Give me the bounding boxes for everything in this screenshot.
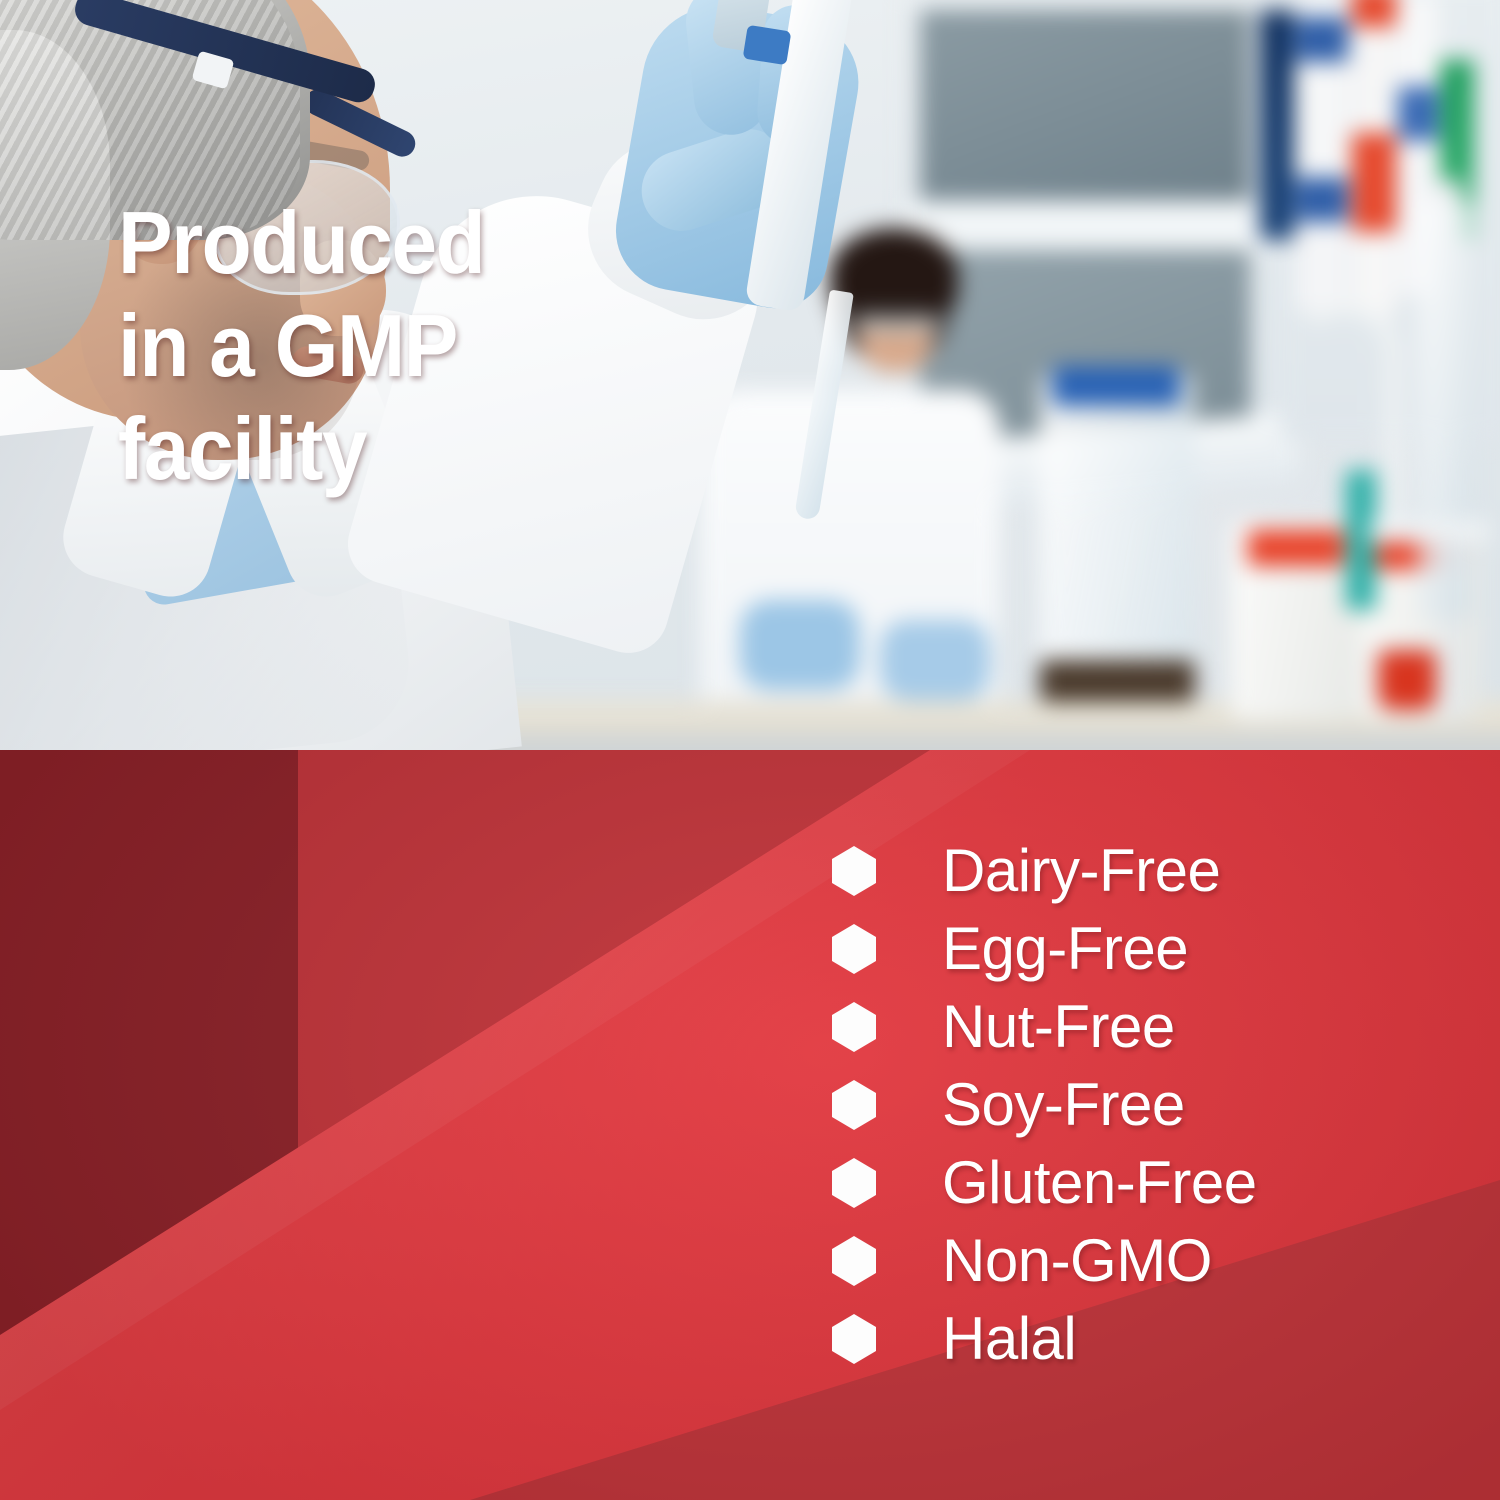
list-item: Egg-Free xyxy=(832,910,1452,988)
headline-line-3: facility xyxy=(118,398,620,501)
reagent-bottle-blue-cap xyxy=(1052,366,1180,406)
list-item: Gluten-Free xyxy=(832,1144,1452,1222)
list-item: Nut-Free xyxy=(832,988,1452,1066)
feature-label: Nut-Free xyxy=(942,997,1175,1057)
feature-label: Halal xyxy=(942,1309,1076,1369)
page-title: Produced in a GMP facility xyxy=(118,192,620,501)
hexagon-bullet-icon xyxy=(832,1080,876,1130)
binder-orange-striped xyxy=(1352,0,1396,316)
hexagon-bullet-icon xyxy=(832,1236,876,1286)
hexagon-bullet-icon xyxy=(832,1158,876,1208)
product-feature-banner: Produced in a GMP facility Dairy-Free Eg… xyxy=(0,0,1500,1500)
pipette-tip xyxy=(794,290,854,521)
fume-hood-lip xyxy=(905,205,1275,250)
list-item: Soy-Free xyxy=(832,1066,1452,1144)
feature-label: Gluten-Free xyxy=(942,1153,1257,1213)
burette-red-stopper xyxy=(1378,650,1436,710)
headline-line-2: in a GMP xyxy=(118,295,620,398)
hexagon-bullet-icon xyxy=(832,1314,876,1364)
feature-list: Dairy-Free Egg-Free Nut-Free Soy-Free Gl… xyxy=(832,832,1452,1378)
hexagon-bullet-icon xyxy=(832,1002,876,1052)
feature-label: Soy-Free xyxy=(942,1075,1185,1135)
reagent-bottle-large xyxy=(1040,370,1195,700)
hexagon-bullet-icon xyxy=(832,846,876,896)
burette-glass xyxy=(1418,200,1472,620)
feature-label: Egg-Free xyxy=(942,919,1188,979)
pipette-blue-accent xyxy=(743,25,792,65)
binder-navy xyxy=(1260,10,1294,240)
binder-blue-striped xyxy=(1296,0,1348,310)
reagent-bottle-base xyxy=(1040,660,1195,702)
list-item: Non-GMO xyxy=(832,1222,1452,1300)
feature-label: Non-GMO xyxy=(942,1231,1212,1291)
burette-stand-clamp xyxy=(1370,520,1490,542)
list-item: Halal xyxy=(832,1300,1452,1378)
fume-hood-glass-upper xyxy=(920,10,1250,200)
feature-label: Dairy-Free xyxy=(942,841,1220,901)
headline-line-1: Produced xyxy=(118,192,620,295)
list-item: Dairy-Free xyxy=(832,832,1452,910)
hexagon-bullet-icon xyxy=(832,924,876,974)
